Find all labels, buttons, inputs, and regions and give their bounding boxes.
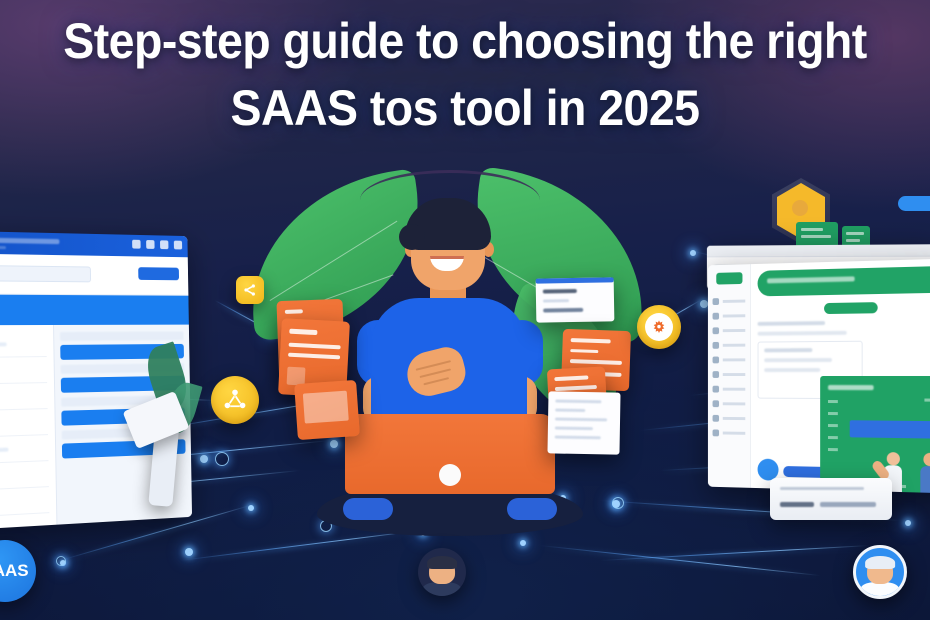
share-icon[interactable]	[236, 276, 264, 304]
table-row[interactable]	[0, 357, 47, 386]
avatar-bottom-right[interactable]	[853, 545, 907, 599]
network-node	[690, 250, 696, 256]
sidebar-item[interactable]	[708, 382, 750, 397]
bell-icon[interactable]	[132, 240, 141, 249]
floating-card-orange[interactable]	[294, 380, 360, 440]
sidebar-item[interactable]	[708, 338, 750, 353]
cog-icon[interactable]	[637, 305, 681, 349]
link-icon[interactable]	[160, 240, 168, 249]
floating-window-white[interactable]	[536, 277, 615, 322]
action-button[interactable]	[824, 302, 878, 314]
side-panel-text	[60, 331, 184, 341]
bottom-right-panel[interactable]	[770, 478, 892, 520]
floating-window-white[interactable]	[547, 391, 620, 454]
network-node	[905, 520, 911, 526]
network-node-ring	[215, 452, 229, 466]
left-dashboard-topbar-icons[interactable]	[132, 240, 182, 250]
top-right-pill-button[interactable]	[898, 196, 930, 211]
network-line	[180, 530, 420, 561]
headline-line-1: Step-step guide to choosing the right	[33, 14, 898, 68]
search-input[interactable]	[0, 264, 91, 282]
page-title: Step-step guide to choosing the right SA…	[33, 14, 898, 135]
app-logo	[716, 272, 742, 284]
center-character	[335, 190, 565, 520]
cart-icon[interactable]	[146, 240, 154, 249]
right-dashboard-content	[751, 258, 930, 493]
sidebar-item[interactable]	[708, 411, 750, 426]
headline-line-2: SAAS tos tool in 2025	[33, 81, 898, 135]
sidebar-item[interactable]	[708, 323, 750, 338]
person-figure	[920, 453, 930, 494]
network-node-ring	[56, 556, 66, 566]
right-dashboard-mockup[interactable]	[708, 258, 930, 493]
sidebar-item[interactable]	[708, 308, 750, 323]
sidebar-item[interactable]	[708, 426, 750, 441]
laptop-logo	[439, 464, 461, 486]
table-row[interactable]	[0, 331, 47, 359]
sidebar-item[interactable]	[708, 352, 750, 367]
hero-banner: Step-step guide to choosing the right SA…	[0, 0, 930, 620]
network-node	[248, 505, 254, 511]
character-shoe-right	[507, 498, 557, 520]
character-shoe-left	[343, 498, 393, 520]
left-dashboard-subtitle-text	[0, 244, 6, 249]
network-icon[interactable]	[211, 376, 259, 424]
left-dashboard-search-row	[0, 252, 188, 295]
header-pill[interactable]	[758, 266, 930, 297]
table-row[interactable]	[0, 487, 49, 521]
window-titlebar	[707, 244, 930, 257]
network-node-ring	[612, 497, 624, 509]
right-dashboard-sidebar[interactable]	[708, 264, 751, 488]
network-node	[700, 300, 708, 308]
network-node	[200, 455, 208, 463]
network-node	[185, 548, 193, 556]
network-node	[520, 540, 526, 546]
sidebar-item[interactable]	[708, 294, 750, 309]
avatar-bottom-center[interactable]	[418, 548, 466, 596]
presentation-board	[820, 376, 930, 494]
user-icon[interactable]	[174, 241, 182, 250]
character-hair	[405, 198, 491, 250]
left-dashboard-table	[0, 325, 56, 534]
sidebar-item[interactable]	[708, 367, 750, 382]
laptop[interactable]	[345, 414, 555, 494]
sidebar-item[interactable]	[708, 396, 750, 411]
primary-action-button[interactable]	[138, 267, 179, 280]
left-dashboard-banner	[0, 294, 189, 325]
left-dashboard-title-text	[0, 236, 59, 244]
network-line	[600, 545, 870, 561]
